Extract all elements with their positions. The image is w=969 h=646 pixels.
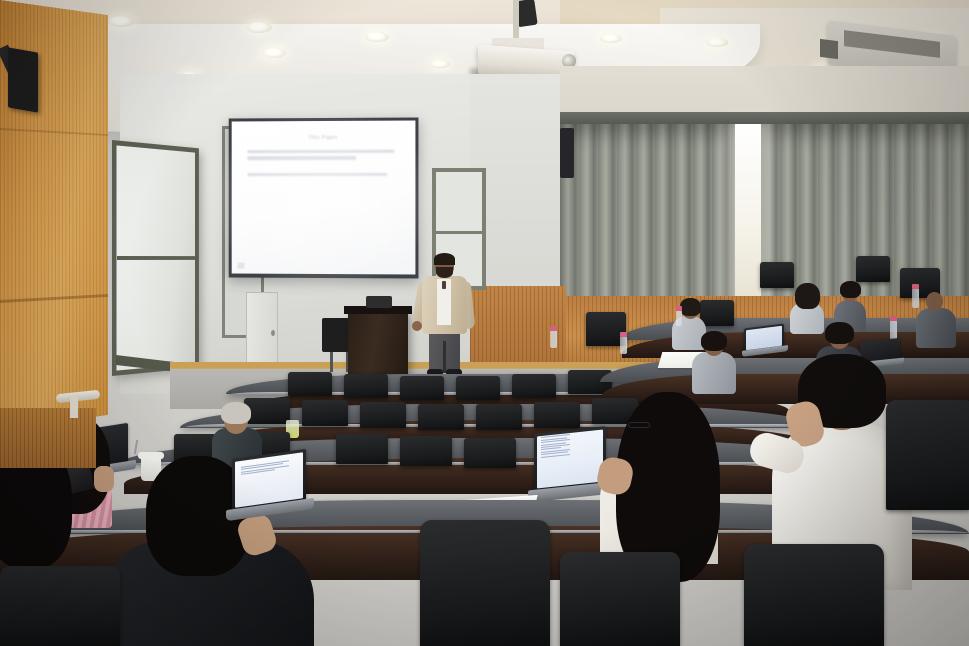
seat (700, 300, 734, 326)
water-bottle (550, 330, 557, 348)
hair (795, 283, 820, 309)
slide-page-number (238, 263, 245, 269)
wall-speaker-icon (560, 128, 574, 178)
hair (840, 281, 861, 298)
seat (418, 404, 464, 430)
slide-title: This Paper (247, 135, 399, 142)
chair-leg (330, 350, 333, 372)
slide-text-line (247, 173, 387, 176)
presenter-hair (434, 253, 455, 265)
projection-screen: This Paper (232, 121, 416, 275)
seat (456, 376, 500, 400)
window-daylight-gap (735, 124, 761, 310)
slide-text-line (247, 150, 394, 154)
whiteboard-narrow-divider (436, 231, 482, 234)
water-bottle (890, 320, 897, 340)
seat (886, 400, 969, 510)
coffee-cup-lid (138, 452, 164, 459)
presenter-leg-split (443, 341, 446, 373)
bottle-cap (890, 316, 897, 321)
laptop-screen-content (537, 430, 603, 489)
presenter-hand (412, 321, 422, 331)
seat (400, 436, 452, 466)
seat (0, 566, 120, 646)
wall-speaker-icon (8, 47, 38, 112)
downlight-icon (365, 32, 389, 42)
seat (476, 404, 522, 430)
left-wainscot-foreground (0, 408, 96, 468)
torso (692, 352, 736, 394)
water-bottle (676, 310, 682, 326)
seat (420, 520, 550, 646)
slide-content: This Paper (232, 121, 416, 275)
seat (512, 374, 556, 398)
panel-seam (0, 128, 108, 136)
downlight-icon (600, 34, 622, 43)
handrail-post (70, 396, 78, 418)
hair (825, 322, 854, 344)
torso (916, 308, 956, 348)
bottle-cap (550, 326, 557, 331)
seat (288, 372, 332, 396)
lectern-podium (348, 310, 408, 376)
lectern-equipment (366, 296, 392, 308)
presenter-lapel-mic-icon (442, 281, 446, 289)
whiteboard-divider (117, 256, 198, 260)
water-bottle (912, 288, 919, 308)
straw-icon (134, 440, 138, 454)
slide-text-line (247, 156, 356, 159)
hair (680, 298, 701, 316)
hand (94, 466, 114, 492)
downlight-icon (108, 16, 134, 27)
downlight-icon (706, 38, 728, 47)
panel-seam (0, 294, 108, 303)
bottle-cap (620, 332, 627, 337)
seat (534, 402, 580, 428)
lecture-hall-photo: This Paper (0, 0, 969, 646)
seat (560, 552, 680, 646)
downlight-icon (262, 48, 286, 58)
seat (760, 262, 794, 288)
curtain-panel-left (560, 120, 735, 320)
downlight-icon (246, 22, 272, 33)
seat (302, 400, 348, 426)
ac-vent-side-grille (820, 39, 838, 59)
door-handle-icon[interactable] (271, 330, 275, 336)
seat (360, 402, 406, 428)
podium-chair (322, 318, 350, 352)
seat (464, 438, 516, 468)
eyeglasses-icon (628, 422, 650, 428)
presenter (418, 255, 470, 375)
seat (856, 256, 890, 282)
seat (744, 544, 884, 646)
head (926, 292, 943, 311)
presenter-beard (436, 267, 453, 278)
seat (400, 376, 444, 400)
downlight-icon (430, 60, 450, 68)
hair (221, 402, 251, 424)
seat (336, 434, 388, 464)
curtain-pelmet (560, 112, 969, 124)
bottle-cap (676, 306, 682, 311)
hair (701, 331, 727, 351)
seat (344, 374, 388, 398)
water-bottle (620, 336, 627, 354)
bottle-cap (912, 284, 919, 289)
laptop-screen-content (235, 452, 303, 508)
